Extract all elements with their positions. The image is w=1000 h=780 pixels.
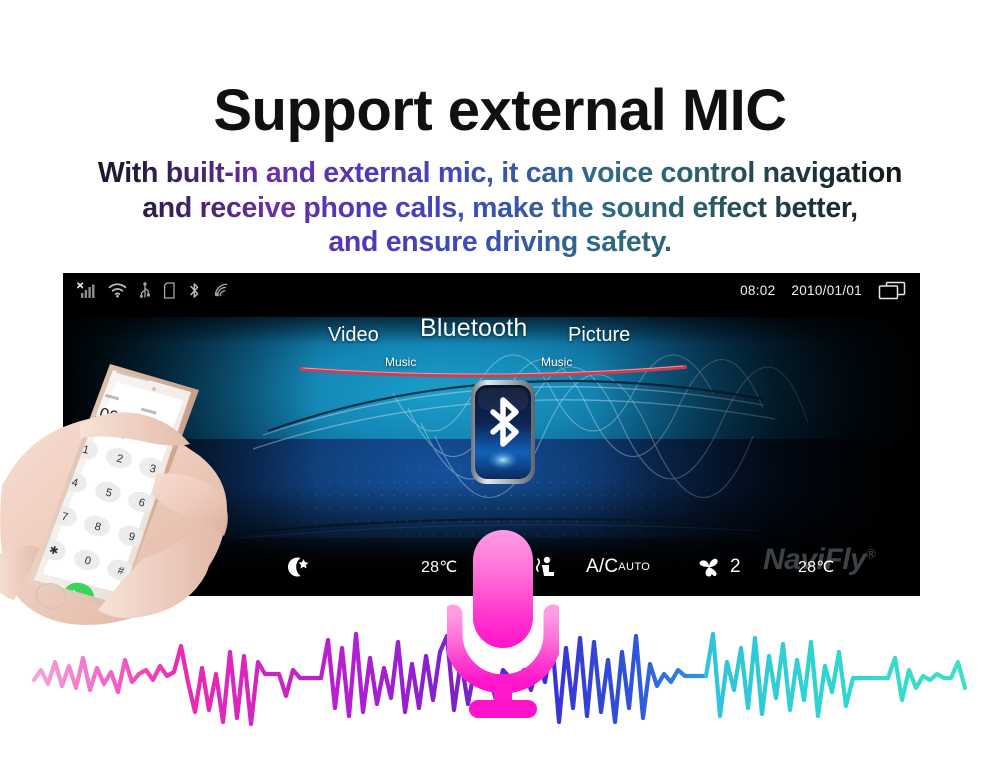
- temperature-right[interactable]: 28℃: [798, 557, 834, 577]
- subtitle-line-2: and receive phone calls, make the sound …: [0, 193, 1000, 224]
- page-subtitle: With built-in and external mic, it can v…: [0, 158, 1000, 258]
- microphone-icon[interactable]: [447, 528, 559, 724]
- gps-icon: [213, 282, 230, 298]
- fan-icon: [696, 556, 722, 578]
- wifi-icon: [108, 283, 127, 298]
- brand-registered-mark: ®: [866, 546, 875, 561]
- sd-card-icon: [163, 282, 176, 299]
- heading-block: Support external MIC With built-in and e…: [0, 82, 1000, 258]
- waveform-segment-1: [34, 640, 349, 724]
- page-title: Support external MIC: [0, 82, 1000, 140]
- fan-speed-control[interactable]: 2: [696, 556, 741, 578]
- waveform-segment-4: [706, 634, 965, 716]
- mic-base: [469, 700, 537, 718]
- fan-level-value: 2: [730, 556, 741, 578]
- night-mode-button[interactable]: [285, 555, 311, 579]
- carousel-item-music-right[interactable]: Music: [541, 355, 572, 369]
- ac-label: A/C: [586, 556, 618, 578]
- status-date: 2010/01/01: [791, 283, 862, 298]
- windows-icon[interactable]: [878, 281, 906, 300]
- waveform-segment-3: [545, 636, 706, 722]
- carousel-item-bluetooth-active[interactable]: Bluetooth: [420, 314, 527, 343]
- signal-off-icon: [77, 282, 96, 299]
- subtitle-line-3: and ensure driving safety.: [0, 227, 1000, 258]
- bluetooth-dongle[interactable]: [468, 378, 538, 490]
- status-time: 08:02: [740, 283, 775, 298]
- carousel-item-video[interactable]: Video: [328, 324, 379, 347]
- moon-stars-icon: [285, 555, 311, 579]
- carousel-item-music-left[interactable]: Music: [385, 355, 416, 369]
- bluetooth-icon: [188, 282, 201, 299]
- usb-icon: [139, 282, 151, 299]
- status-icons-group: [77, 282, 230, 299]
- mic-stem: [494, 674, 512, 704]
- mic-capsule: [473, 530, 533, 648]
- ac-mode-label: AUTO: [618, 561, 650, 573]
- ac-auto-button[interactable]: A/CAUTO: [586, 556, 650, 578]
- status-bar-right: 08:02 2010/01/01: [740, 281, 906, 300]
- carousel-item-picture[interactable]: Picture: [568, 324, 630, 347]
- status-bar: 08:02 2010/01/01: [63, 273, 920, 307]
- subtitle-line-1: With built-in and external mic, it can v…: [0, 158, 1000, 189]
- hand-holding-phone: 10086 中国移动: [0, 352, 262, 652]
